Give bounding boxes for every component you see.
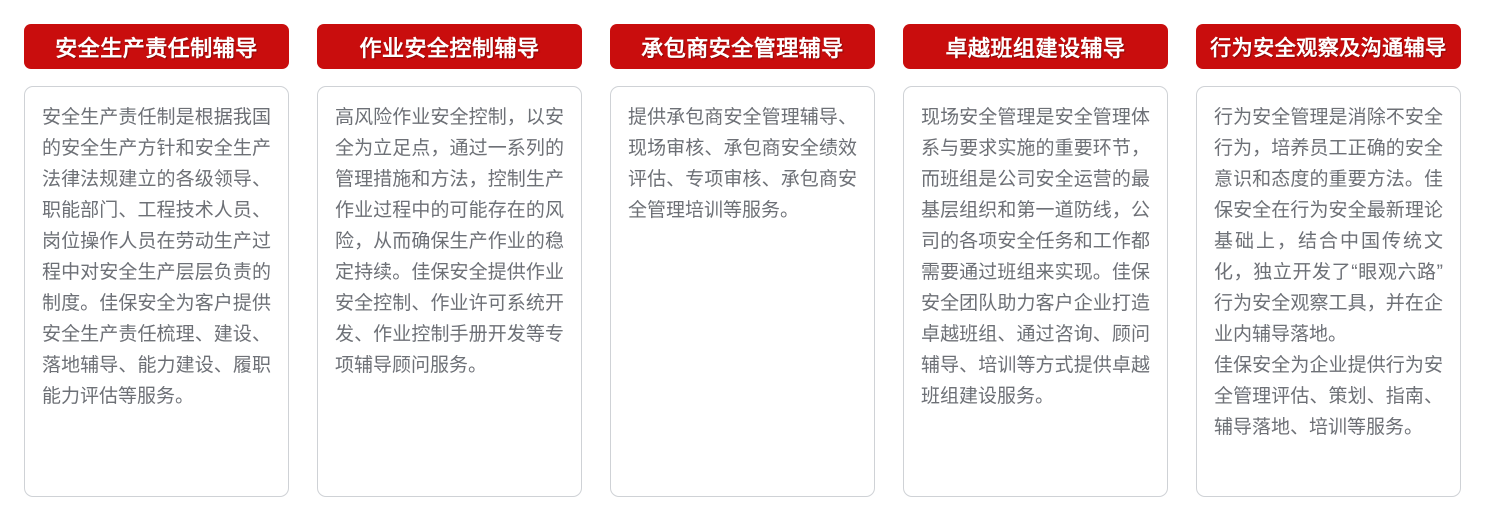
service-card-excellent-team-building[interactable]: 卓越班组建设辅导 现场安全管理是安全管理体系与要求实施的重要环节，而班组是公司安… (903, 24, 1168, 497)
service-card-title-operation-safety-control[interactable]: 作业安全控制辅导 (317, 24, 582, 69)
service-card-body-behavior-safety-observation: 行为安全管理是消除不安全行为，培养员工正确的安全意识和态度的重要方法。佳保安全在… (1196, 86, 1461, 497)
service-card-body-operation-safety-control: 高风险作业安全控制，以安全为立足点，通过一系列的管理措施和方法，控制生产作业过程… (317, 86, 582, 497)
service-card-behavior-safety-observation[interactable]: 行为安全观察及沟通辅导 行为安全管理是消除不安全行为，培养员工正确的安全意识和态… (1196, 24, 1461, 497)
service-card-description: 高风险作业安全控制，以安全为立足点，通过一系列的管理措施和方法，控制生产作业过程… (335, 103, 564, 382)
service-card-body-safety-responsibility: 安全生产责任制是根据我国的安全生产方针和安全生产法律法规建立的各级领导、职能部门… (24, 86, 289, 497)
service-card-title-contractor-safety-management[interactable]: 承包商安全管理辅导 (610, 24, 875, 69)
service-card-body-contractor-safety-management: 提供承包商安全管理辅导、现场审核、承包商安全绩效评估、专项审核、承包商安全管理培… (610, 86, 875, 497)
service-card-description: 提供承包商安全管理辅导、现场审核、承包商安全绩效评估、专项审核、承包商安全管理培… (628, 103, 857, 227)
service-cards-row: 安全生产责任制辅导 安全生产责任制是根据我国的安全生产方针和安全生产法律法规建立… (0, 0, 1485, 515)
service-card-title-excellent-team-building[interactable]: 卓越班组建设辅导 (903, 24, 1168, 69)
service-card-safety-responsibility[interactable]: 安全生产责任制辅导 安全生产责任制是根据我国的安全生产方针和安全生产法律法规建立… (24, 24, 289, 497)
service-card-description: 现场安全管理是安全管理体系与要求实施的重要环节，而班组是公司安全运营的最基层组织… (921, 103, 1150, 413)
service-card-description: 行为安全管理是消除不安全行为，培养员工正确的安全意识和态度的重要方法。佳保安全在… (1214, 103, 1443, 444)
service-card-contractor-safety-management[interactable]: 承包商安全管理辅导 提供承包商安全管理辅导、现场审核、承包商安全绩效评估、专项审… (610, 24, 875, 497)
service-card-title-behavior-safety-observation[interactable]: 行为安全观察及沟通辅导 (1196, 24, 1461, 69)
service-card-title-safety-responsibility[interactable]: 安全生产责任制辅导 (24, 24, 289, 69)
service-card-description: 安全生产责任制是根据我国的安全生产方针和安全生产法律法规建立的各级领导、职能部门… (42, 103, 271, 413)
service-card-body-excellent-team-building: 现场安全管理是安全管理体系与要求实施的重要环节，而班组是公司安全运营的最基层组织… (903, 86, 1168, 497)
service-card-operation-safety-control[interactable]: 作业安全控制辅导 高风险作业安全控制，以安全为立足点，通过一系列的管理措施和方法… (317, 24, 582, 497)
